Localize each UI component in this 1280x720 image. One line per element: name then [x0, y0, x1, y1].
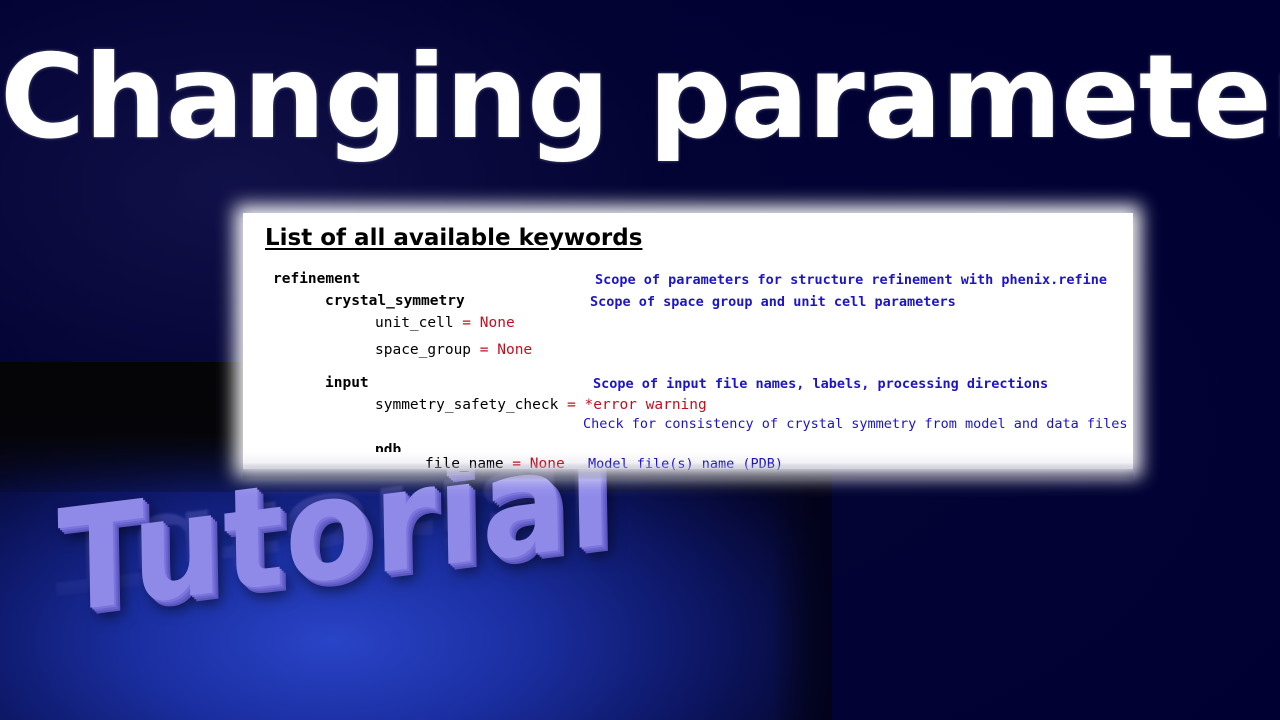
- keyword-description: Scope of parameters for structure refine…: [595, 272, 1107, 288]
- keyword-value: None: [530, 456, 565, 472]
- keyword-label: file_name: [425, 456, 504, 472]
- keyword-name: unit_cell = None: [375, 315, 515, 331]
- keyword-assign: =: [454, 315, 480, 331]
- keyword-name: space_group = None: [375, 342, 532, 358]
- keyword-description: Check for consistency of crystal symmetr…: [583, 416, 1128, 432]
- keyword-name: symmetry_safety_check = *error warning: [375, 397, 707, 413]
- keyword-label: unit_cell: [375, 315, 454, 331]
- keyword-label: symmetry_safety_check: [375, 397, 558, 413]
- keyword-name: file_name = None: [425, 456, 565, 472]
- keyword-value: None: [497, 342, 532, 358]
- keyword-label: refinement: [273, 271, 360, 287]
- page-title: Changing parameters: [0, 32, 1280, 164]
- keyword-name: crystal_symmetry: [325, 293, 465, 309]
- keyword-overflow-row: file_name = NoneModel file(s) name (PDB): [243, 452, 1133, 480]
- keyword-assign: =: [504, 456, 530, 472]
- keyword-name: refinement: [273, 271, 360, 287]
- keyword-assign: =: [471, 342, 497, 358]
- keyword-assign: =: [558, 397, 584, 413]
- keyword-value: *error warning: [585, 397, 707, 413]
- keyword-description: Scope of space group and unit cell param…: [590, 294, 956, 310]
- keyword-label: crystal_symmetry: [325, 293, 465, 309]
- keyword-name: input: [325, 375, 369, 391]
- keyword-description: Model file(s) name (PDB): [588, 456, 783, 472]
- slide-root: Changing parameters Tutorial Tutorial Li…: [0, 0, 1280, 720]
- keyword-label: input: [325, 375, 369, 391]
- keyword-panel: List of all available keywords refinemen…: [243, 213, 1133, 469]
- keyword-value: None: [480, 315, 515, 331]
- keyword-panel-heading: List of all available keywords: [265, 224, 642, 252]
- keyword-label: space_group: [375, 342, 471, 358]
- keyword-description: Scope of input file names, labels, proce…: [593, 376, 1048, 392]
